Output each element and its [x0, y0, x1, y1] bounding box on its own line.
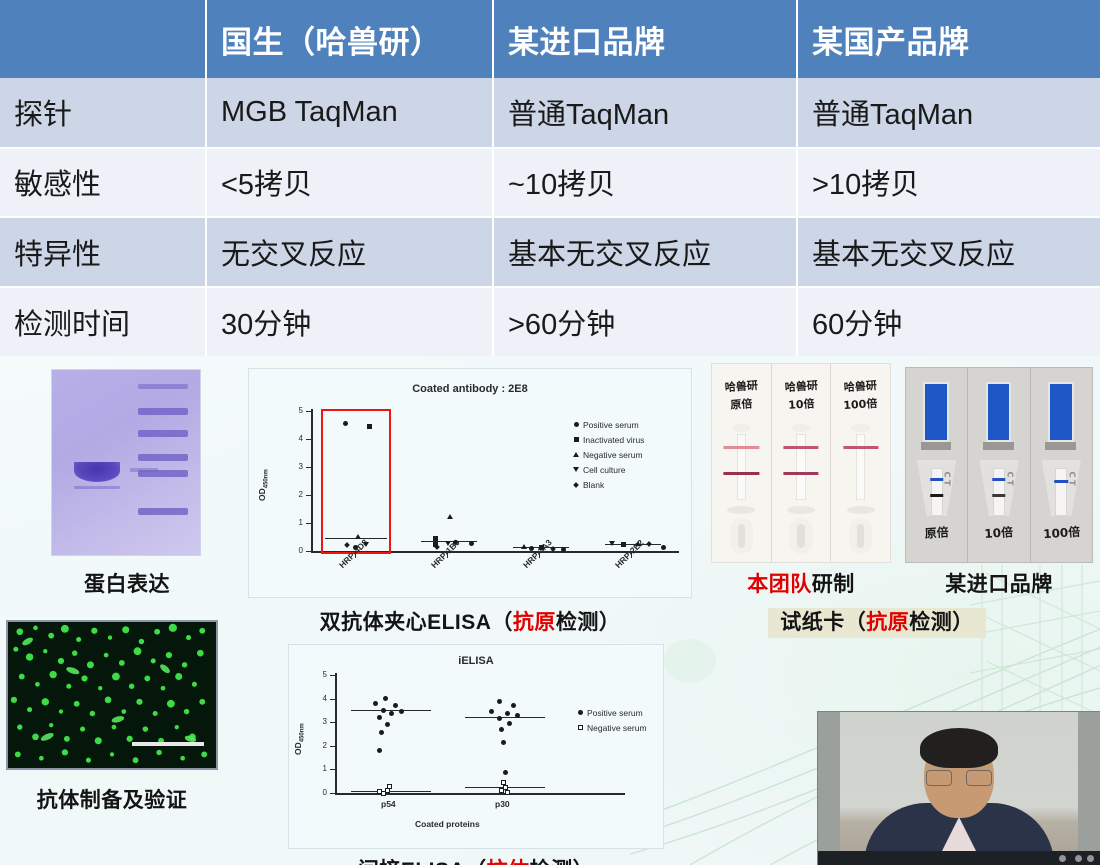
- sandwich-elisa-caption: 双抗体夹心ELISA（抗原检测）: [248, 606, 692, 636]
- figure-gallery: 蛋白表达: [0, 356, 1100, 865]
- legend-item: Negative serum: [573, 720, 647, 735]
- table-cell: MGB TaqMan: [206, 78, 493, 148]
- table-cell: ~10拷贝: [493, 148, 797, 218]
- chart-legend: Positive serum Inactivated virus Negativ…: [569, 417, 644, 492]
- table-row: 敏感性 <5拷贝 ~10拷贝 >10拷贝: [0, 148, 1100, 218]
- comparison-table-container: 国生（哈兽研） 某进口品牌 某国产品牌 探针 MGB TaqMan 普通TaqM…: [0, 0, 1100, 356]
- caption-text-post: 检测）: [556, 611, 621, 634]
- ct-marking: C T: [1068, 471, 1077, 485]
- x-tick-label: HRP-3A3: [521, 537, 554, 570]
- row-label: 敏感性: [0, 148, 206, 218]
- mute-icon[interactable]: [1059, 855, 1066, 862]
- control-line: [843, 446, 878, 449]
- test-line: [783, 472, 818, 475]
- data-point: [367, 424, 372, 429]
- data-point: [561, 547, 566, 552]
- data-point: [389, 711, 394, 716]
- fluorescence-cells: [8, 622, 216, 768]
- y-tick-label: 3: [279, 462, 303, 471]
- glasses-icon: [926, 770, 992, 786]
- strip-group-caption-text: 试纸卡（抗原检测）: [768, 608, 986, 638]
- chart-title: Coated antibody : 2E8: [249, 383, 691, 395]
- data-point: [343, 421, 348, 426]
- x-axis-label: Coated proteins: [415, 819, 480, 829]
- data-point: [505, 711, 510, 716]
- slide-canvas: 国生（哈兽研） 某进口品牌 某国产品牌 探针 MGB TaqMan 普通TaqM…: [0, 0, 1100, 865]
- data-point: [383, 696, 388, 701]
- y-tick: [330, 793, 336, 794]
- legend-marker-square: [569, 437, 583, 442]
- data-point: [499, 727, 504, 732]
- gel-ladder-band: [138, 508, 188, 515]
- table-row: 特异性 无交叉反应 基本无交叉反应 基本无交叉反应: [0, 217, 1100, 287]
- legend-label: Negative serum: [587, 723, 647, 733]
- legend-marker-circle: [573, 710, 587, 715]
- ct-marking: C T: [1005, 471, 1014, 485]
- legend-item: Positive serum: [569, 417, 644, 432]
- caption-text-highlight: 抗原: [513, 611, 556, 634]
- y-axis-line: [311, 409, 313, 553]
- y-tick: [306, 523, 312, 524]
- more-options-icon[interactable]: [1087, 855, 1094, 862]
- test-strip: 100倍 C T: [1031, 368, 1092, 562]
- test-strip: 哈兽研 原倍: [712, 364, 772, 562]
- y-tick: [306, 411, 312, 412]
- table-row: 检测时间 30分钟 >60分钟 60分钟: [0, 287, 1100, 357]
- caption-text-post: 检测）: [530, 859, 595, 865]
- table-cell: 基本无交叉反应: [797, 217, 1100, 287]
- handwritten-label: 原倍: [905, 522, 967, 543]
- speaker-hair: [920, 728, 998, 768]
- y-tick-label: 2: [307, 741, 327, 750]
- data-point: [447, 514, 453, 519]
- data-point: [505, 790, 510, 795]
- fluorescence-caption: 抗体制备及验证: [6, 784, 218, 814]
- legend-marker-circle: [569, 422, 583, 427]
- gel-ladder-band: [138, 454, 188, 461]
- legend-label: Positive serum: [587, 708, 643, 718]
- test-strip: 10倍 C T: [968, 368, 1030, 562]
- data-point: [621, 542, 626, 547]
- x-tick-label: p54: [381, 799, 396, 809]
- data-point: [529, 546, 534, 551]
- comparison-table: 国生（哈兽研） 某进口品牌 某国产品牌 探针 MGB TaqMan 普通TaqM…: [0, 0, 1100, 356]
- data-point: [646, 541, 652, 547]
- table-header-cell-1: 国生（哈兽研）: [206, 0, 493, 78]
- legend-marker-triangle: [569, 452, 583, 457]
- camera-icon[interactable]: [1075, 855, 1082, 862]
- control-line: [930, 478, 943, 481]
- table-header-row: 国生（哈兽研） 某进口品牌 某国产品牌: [0, 0, 1100, 78]
- indirect-elisa-chart: iELISA 0 1 2 3 4 5 OD450nm p54 p30 Coate…: [288, 644, 664, 849]
- data-point: [433, 536, 438, 541]
- data-point: [499, 788, 504, 793]
- gel-ladder-band: [138, 384, 188, 389]
- fluorescence-micrograph-image: [6, 620, 218, 770]
- handwritten-label-line1: 哈兽研: [771, 376, 831, 396]
- own-test-strips-photo: 哈兽研 原倍 哈兽研 10倍: [712, 364, 890, 562]
- y-tick: [306, 495, 312, 496]
- row-label: 特异性: [0, 217, 206, 287]
- webcam-video-tile[interactable]: [818, 712, 1100, 865]
- data-point: [381, 708, 386, 713]
- imported-strips-caption: 某进口品牌: [900, 568, 1098, 598]
- table-cell: 无交叉反应: [206, 217, 493, 287]
- row-label: 探针: [0, 78, 206, 148]
- control-line: [783, 446, 818, 449]
- legend-label: Inactivated virus: [583, 435, 644, 445]
- table-cell: 普通TaqMan: [797, 78, 1100, 148]
- y-tick-label: 0: [279, 546, 303, 555]
- data-point: [497, 699, 502, 704]
- chart-legend: Positive serum Negative serum: [573, 705, 647, 735]
- y-tick-label: 4: [307, 694, 327, 703]
- highlight-box: [321, 409, 391, 554]
- data-point: [511, 703, 516, 708]
- y-tick: [330, 769, 336, 770]
- webcam-frame-left: [818, 712, 840, 865]
- data-point: [363, 542, 369, 547]
- legend-item: Cell culture: [569, 462, 644, 477]
- handwritten-label: 100倍: [1030, 522, 1092, 543]
- legend-label: Positive serum: [583, 420, 639, 430]
- data-point: [355, 534, 361, 539]
- y-axis-label-subscript: 450nm: [300, 723, 306, 742]
- legend-item: Positive serum: [573, 705, 647, 720]
- legend-marker-triangle-down: [569, 467, 583, 472]
- data-point: [393, 703, 398, 708]
- y-axis-label: OD450nm: [293, 723, 306, 755]
- gel-ladder-band: [138, 408, 188, 415]
- table-cell: <5拷贝: [206, 148, 493, 218]
- data-point: [453, 540, 458, 545]
- data-point: [539, 545, 544, 550]
- y-tick-label: 1: [279, 518, 303, 527]
- scale-bar: [132, 742, 204, 746]
- y-tick: [306, 439, 312, 440]
- data-point: [385, 722, 390, 727]
- control-line: [1055, 480, 1068, 483]
- data-point: [469, 541, 474, 546]
- y-tick-label: 5: [307, 670, 327, 679]
- data-point: [381, 791, 386, 796]
- indirect-elisa-caption: 间接ELISA（抗体检测）: [288, 854, 664, 865]
- gel-ladder-band: [138, 430, 188, 437]
- legend-marker-open-square: [573, 725, 587, 730]
- ct-marking: C T: [943, 471, 952, 485]
- data-point: [377, 715, 382, 720]
- y-tick-label: 2: [279, 490, 303, 499]
- caption-text-pre: 间接ELISA（: [358, 859, 487, 865]
- y-axis-label-base: OD: [257, 488, 267, 501]
- row-label: 检测时间: [0, 287, 206, 357]
- y-tick: [330, 746, 336, 747]
- caption-text-pre: 试纸卡（: [780, 611, 866, 634]
- handwritten-label-line2: 10倍: [771, 394, 831, 414]
- y-axis-label: OD450nm: [257, 469, 270, 501]
- data-point: [373, 701, 378, 706]
- table-cell: >60分钟: [493, 287, 797, 357]
- legend-label: Cell culture: [583, 465, 626, 475]
- y-tick-label: 3: [307, 717, 327, 726]
- baseline: [337, 793, 577, 794]
- table-cell: 基本无交叉反应: [493, 217, 797, 287]
- test-strip: 哈兽研 100倍: [831, 364, 890, 562]
- test-strip: 哈兽研 10倍: [772, 364, 832, 562]
- data-point: [445, 541, 451, 546]
- y-axis-label-subscript: 450nm: [264, 469, 270, 488]
- data-point: [434, 544, 440, 550]
- control-line: [992, 478, 1005, 481]
- handwritten-label: 10倍: [968, 522, 1030, 543]
- data-point: [379, 730, 384, 735]
- gel-caption: 蛋白表达: [14, 568, 240, 598]
- data-point: [515, 713, 520, 718]
- strip-group-caption: 试纸卡（抗原检测）: [712, 606, 1042, 636]
- y-tick: [330, 722, 336, 723]
- gel-ladder-band: [138, 470, 188, 477]
- data-point: [609, 541, 615, 546]
- test-line: [724, 472, 759, 475]
- test-line: [930, 494, 943, 497]
- table-cell: 30分钟: [206, 287, 493, 357]
- data-point: [489, 709, 494, 714]
- sds-page-gel-image: [52, 370, 200, 555]
- sandwich-elisa-chart: Coated antibody : 2E8 0 1 2 3 4 5 OD450n…: [248, 368, 692, 598]
- y-tick-label: 1: [307, 764, 327, 773]
- legend-item: Inactivated virus: [569, 432, 644, 447]
- caption-text-pre: 双抗体夹心ELISA（: [320, 611, 513, 634]
- data-point: [521, 544, 527, 549]
- y-tick-label: 0: [307, 788, 327, 797]
- y-tick-label: 5: [279, 406, 303, 415]
- webcam-frame-right: [1078, 712, 1100, 865]
- table-header-cell-0: [0, 0, 206, 78]
- chart-title: iELISA: [289, 655, 663, 667]
- test-line: [992, 494, 1005, 497]
- legend-label: Blank: [583, 480, 604, 490]
- data-point: [501, 740, 506, 745]
- handwritten-label-line1: 哈兽研: [831, 376, 891, 396]
- y-axis-label-base: OD: [293, 742, 303, 755]
- data-point: [377, 748, 382, 753]
- table-header-cell-2: 某进口品牌: [493, 0, 797, 78]
- caption-text-highlight: 抗原: [866, 611, 909, 634]
- imported-test-strips-photo: 原倍 C T 10倍 C T 100倍 C T: [906, 368, 1092, 562]
- table-header-cell-3: 某国产品牌: [797, 0, 1100, 78]
- table-cell: 普通TaqMan: [493, 78, 797, 148]
- data-point: [635, 541, 641, 546]
- caption-text-highlight: 本团队: [747, 573, 812, 596]
- handwritten-label-line1: 哈兽研: [712, 376, 772, 396]
- data-point: [507, 721, 512, 726]
- table-row: 探针 MGB TaqMan 普通TaqMan 普通TaqMan: [0, 78, 1100, 148]
- handwritten-label-line2: 100倍: [831, 394, 891, 414]
- x-tick-label: p30: [495, 799, 510, 809]
- table-cell: 60分钟: [797, 287, 1100, 357]
- y-tick: [306, 467, 312, 468]
- test-strip: 原倍 C T: [906, 368, 968, 562]
- y-tick: [306, 551, 312, 552]
- y-tick-label: 4: [279, 434, 303, 443]
- gel-target-band: [74, 462, 120, 482]
- data-point: [661, 545, 666, 550]
- y-axis-line: [335, 673, 337, 795]
- caption-text-post: 研制: [812, 573, 855, 596]
- legend-item: Blank: [569, 477, 644, 492]
- data-point: [497, 716, 502, 721]
- y-tick: [330, 675, 336, 676]
- mean-line: [465, 717, 545, 718]
- data-point: [399, 709, 404, 714]
- caption-text-post: 检测）: [909, 611, 974, 634]
- legend-item: Negative serum: [569, 447, 644, 462]
- data-point: [353, 545, 358, 550]
- handwritten-label-line2: 原倍: [712, 394, 772, 414]
- data-point: [503, 770, 508, 775]
- legend-marker-diamond: [569, 483, 583, 487]
- caption-text-highlight: 抗体: [487, 859, 530, 865]
- legend-label: Negative serum: [583, 450, 643, 460]
- own-strips-caption: 本团队研制: [690, 568, 912, 598]
- control-line: [724, 446, 759, 449]
- table-cell: >10拷贝: [797, 148, 1100, 218]
- gel-band: [74, 486, 120, 489]
- webcam-toolbar: [818, 851, 1100, 865]
- y-tick: [330, 699, 336, 700]
